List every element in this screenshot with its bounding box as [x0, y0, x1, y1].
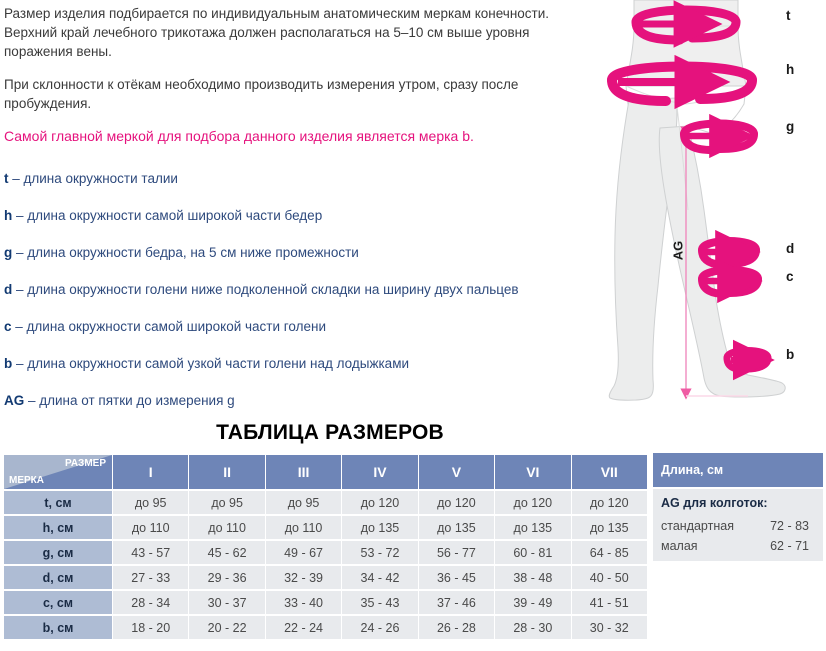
column-header-3: III [266, 455, 341, 489]
intro-paragraph-2: При склонности к отёкам необходимо произ… [4, 75, 594, 113]
cell-g-1: 43 - 57 [113, 541, 188, 564]
cell-t-2: до 95 [189, 491, 264, 514]
legend-item-ag: AG – длина от пятки до измерения g [4, 392, 604, 410]
table-row: g, см 43 - 57 45 - 62 49 - 67 53 - 72 56… [4, 541, 647, 564]
cell-g-7: 64 - 85 [572, 541, 647, 564]
corner-measure-label: МЕРКА [9, 475, 44, 486]
measure-band-g [684, 124, 754, 151]
cell-d-7: 40 - 50 [572, 566, 647, 589]
cell-c-3: 33 - 40 [266, 591, 341, 614]
cell-t-5: до 120 [419, 491, 494, 514]
cell-g-6: 60 - 81 [495, 541, 570, 564]
column-header-4: IV [342, 455, 417, 489]
row-label-h: h, см [4, 516, 112, 539]
length-panel-body: AG для колготок: стандартная 72 - 83 мал… [653, 489, 823, 561]
label-measure-t: t [786, 8, 791, 23]
cell-b-3: 22 - 24 [266, 616, 341, 639]
legend-key-c: c [4, 319, 12, 334]
measure-band-c [702, 270, 758, 294]
row-label-t: t, см [4, 491, 112, 514]
cell-h-5: до 135 [419, 516, 494, 539]
length-value-standard: 72 - 83 [770, 519, 809, 533]
cell-d-2: 29 - 36 [189, 566, 264, 589]
length-row-standard: стандартная 72 - 83 [653, 516, 823, 536]
table-row: h, см до 110 до 110 до 110 до 135 до 135… [4, 516, 647, 539]
legend-text-ag: – длина от пятки до измерения g [24, 393, 234, 408]
cell-h-7: до 135 [572, 516, 647, 539]
cell-b-6: 28 - 30 [495, 616, 570, 639]
cell-c-5: 37 - 46 [419, 591, 494, 614]
legend-key-d: d [4, 282, 12, 297]
column-header-5: V [419, 455, 494, 489]
legend-key-b: b [4, 356, 12, 371]
measure-band-b [727, 351, 768, 371]
legend-item-t: t – длина окружности талии [4, 170, 604, 188]
cell-h-3: до 110 [266, 516, 341, 539]
cell-g-5: 56 - 77 [419, 541, 494, 564]
legend-item-c: c – длина окружности самой широкой части… [4, 318, 604, 336]
length-panel-header: Длина, см [653, 453, 823, 487]
legend-item-g: g – длина окружности бедра, на 5 см ниже… [4, 244, 604, 262]
table-row: b, см 18 - 20 20 - 22 22 - 24 24 - 26 26… [4, 616, 647, 639]
cell-t-7: до 120 [572, 491, 647, 514]
cell-b-2: 20 - 22 [189, 616, 264, 639]
legend-item-h: h – длина окружности самой широкой части… [4, 207, 604, 225]
table-header-row: РАЗМЕР МЕРКА I II III IV V VI VII [4, 455, 647, 489]
column-header-7: VII [572, 455, 647, 489]
legend-item-d: d – длина окружности голени ниже подколе… [4, 281, 604, 299]
table-row: d, см 27 - 33 29 - 36 32 - 39 34 - 42 36… [4, 566, 647, 589]
cell-d-3: 32 - 39 [266, 566, 341, 589]
length-name-small: малая [661, 539, 698, 553]
cell-c-7: 41 - 51 [572, 591, 647, 614]
legend-key-g: g [4, 245, 12, 260]
table-row: t, см до 95 до 95 до 95 до 120 до 120 до… [4, 491, 647, 514]
label-measure-d: d [786, 241, 794, 256]
cell-g-3: 49 - 67 [266, 541, 341, 564]
body-silhouette [609, 0, 785, 400]
cell-g-4: 53 - 72 [342, 541, 417, 564]
cell-c-1: 28 - 34 [113, 591, 188, 614]
length-value-small: 62 - 71 [770, 539, 809, 553]
cell-d-1: 27 - 33 [113, 566, 188, 589]
cell-d-5: 36 - 45 [419, 566, 494, 589]
table-title: ТАБЛИЦА РАЗМЕРОВ [0, 421, 660, 445]
cell-g-2: 45 - 62 [189, 541, 264, 564]
label-measure-g: g [786, 119, 794, 134]
cell-h-2: до 110 [189, 516, 264, 539]
body-measurement-illustration: t h g d c b AG [596, 0, 826, 412]
cell-t-4: до 120 [342, 491, 417, 514]
cell-t-1: до 95 [113, 491, 188, 514]
legend-text-d: – длина окружности голени ниже подколенн… [12, 282, 518, 297]
legend-key-h: h [4, 208, 12, 223]
cell-h-6: до 135 [495, 516, 570, 539]
label-measure-ag: AG [670, 241, 685, 261]
row-label-c: c, см [4, 591, 112, 614]
intro-highlight-note: Самой главной меркой для подбора данного… [4, 127, 594, 146]
legend-text-c: – длина окружности самой широкой части г… [12, 319, 326, 334]
cell-t-3: до 95 [266, 491, 341, 514]
legend-text-h: – длина окружности самой широкой части б… [12, 208, 322, 223]
length-panel: Длина, см AG для колготок: стандартная 7… [653, 453, 823, 561]
cell-h-1: до 110 [113, 516, 188, 539]
legend-key-ag: AG [4, 393, 24, 408]
cell-b-7: 30 - 32 [572, 616, 647, 639]
cell-h-4: до 135 [342, 516, 417, 539]
corner-header-cell: РАЗМЕР МЕРКА [4, 455, 112, 489]
cell-d-6: 38 - 48 [495, 566, 570, 589]
cell-b-5: 26 - 28 [419, 616, 494, 639]
length-row-small: малая 62 - 71 [653, 536, 823, 556]
label-measure-h: h [786, 62, 794, 77]
row-label-b: b, см [4, 616, 112, 639]
table-row: c, см 28 - 34 30 - 37 33 - 40 35 - 43 37… [4, 591, 647, 614]
intro-paragraph-1: Размер изделия подбирается по индивидуал… [4, 4, 594, 61]
row-label-g: g, см [4, 541, 112, 564]
label-measure-b: b [786, 347, 794, 362]
legend-item-b: b – длина окружности самой узкой части г… [4, 355, 604, 373]
cell-c-4: 35 - 43 [342, 591, 417, 614]
length-name-standard: стандартная [661, 519, 734, 533]
cell-t-6: до 120 [495, 491, 570, 514]
legend-text-t: – длина окружности талии [9, 171, 178, 186]
legend-text-b: – длина окружности самой узкой части гол… [12, 356, 409, 371]
cell-c-2: 30 - 37 [189, 591, 264, 614]
intro-text-block: Размер изделия подбирается по индивидуал… [4, 4, 594, 166]
label-measure-c: c [786, 269, 794, 284]
column-header-1: I [113, 455, 188, 489]
cell-b-1: 18 - 20 [113, 616, 188, 639]
row-label-d: d, см [4, 566, 112, 589]
length-panel-title: AG для колготок: [653, 493, 823, 516]
measurement-legend: t – длина окружности талии h – длина окр… [4, 170, 604, 429]
column-header-6: VI [495, 455, 570, 489]
column-header-2: II [189, 455, 264, 489]
corner-size-label: РАЗМЕР [65, 458, 106, 469]
cell-d-4: 34 - 42 [342, 566, 417, 589]
cell-b-4: 24 - 26 [342, 616, 417, 639]
cell-c-6: 39 - 49 [495, 591, 570, 614]
size-table: РАЗМЕР МЕРКА I II III IV V VI VII t, см … [3, 453, 648, 641]
measure-band-d [702, 241, 756, 265]
legend-text-g: – длина окружности бедра, на 5 см ниже п… [12, 245, 359, 260]
